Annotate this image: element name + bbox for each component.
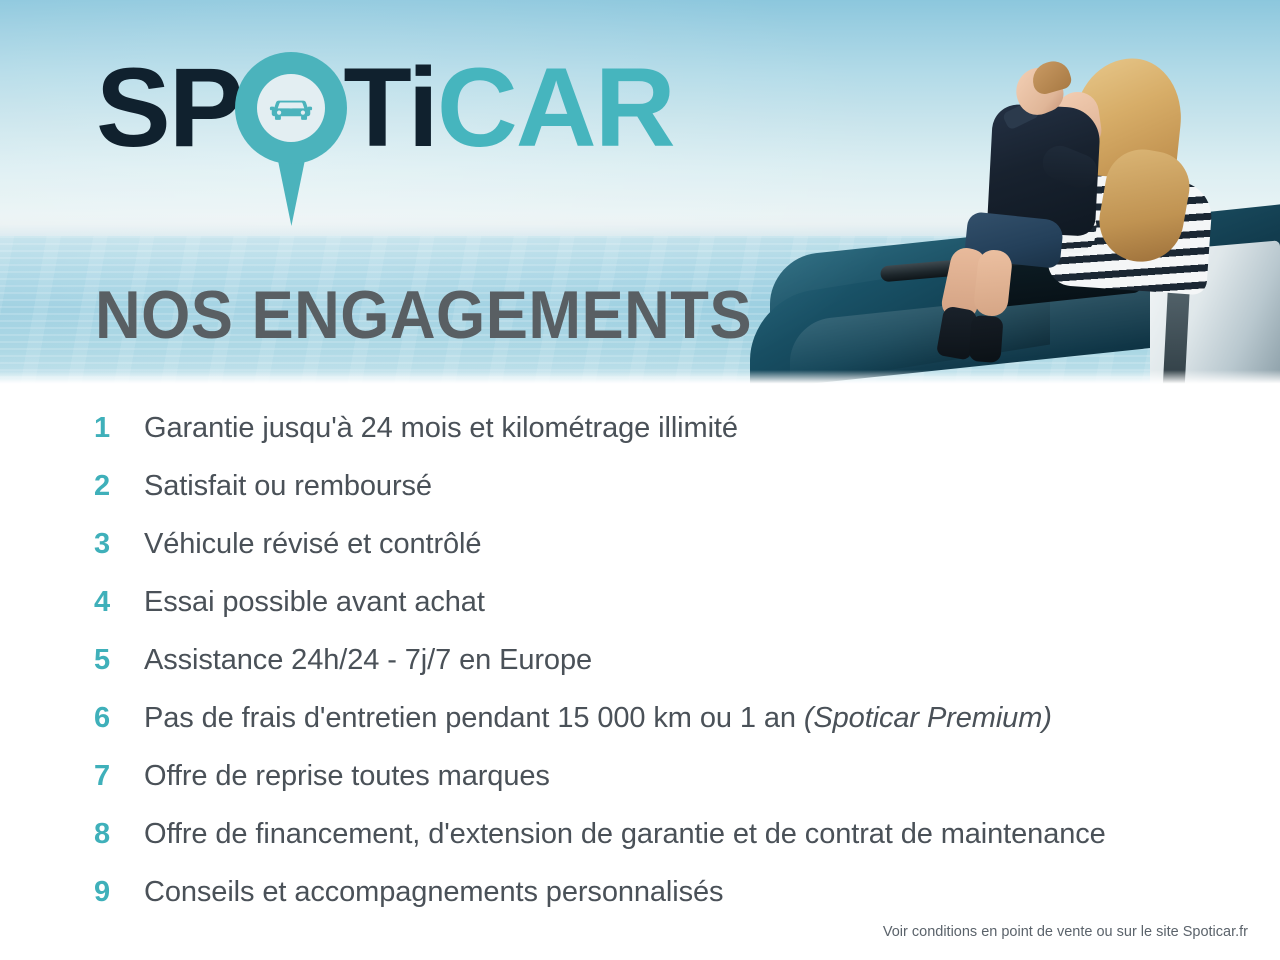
list-item-text: Offre de financement, d'extension de gar… xyxy=(144,818,1106,850)
list-item-text: Satisfait ou remboursé xyxy=(144,470,432,502)
list-item-text: Essai possible avant achat xyxy=(144,586,485,618)
page-title: NOS ENGAGEMENTS xyxy=(95,280,752,350)
list-item-text: Assistance 24h/24 - 7j/7 en Europe xyxy=(144,644,592,676)
list-item-number: 9 xyxy=(94,878,144,907)
list-item: 4Essai possible avant achat xyxy=(94,586,1244,644)
list-item-text: Véhicule révisé et contrôlé xyxy=(144,528,481,560)
list-item: 8Offre de financement, d'extension de ga… xyxy=(94,818,1244,876)
list-item: 7Offre de reprise toutes marques xyxy=(94,760,1244,818)
list-item-label: Assistance 24h/24 - 7j/7 en Europe xyxy=(144,644,592,676)
legal-disclaimer: Voir conditions en point de vente ou sur… xyxy=(883,923,1248,941)
list-item-text: Garantie jusqu'à 24 mois et kilométrage … xyxy=(144,412,738,444)
list-item-emphasis: (Spoticar Premium) xyxy=(804,702,1052,734)
list-item-label: Conseils et accompagnements personnalisé… xyxy=(144,876,723,908)
list-item-number: 7 xyxy=(94,762,144,791)
poster-page: SP xyxy=(0,0,1280,960)
list-item: 6Pas de frais d'entretien pendant 15 000… xyxy=(94,702,1244,760)
map-pin-car-icon xyxy=(235,52,347,224)
list-item: 1Garantie jusqu'à 24 mois et kilométrage… xyxy=(94,412,1244,470)
list-item-label: Véhicule révisé et contrôlé xyxy=(144,528,481,560)
list-item-text: Conseils et accompagnements personnalisé… xyxy=(144,876,723,908)
list-item-number: 1 xyxy=(94,414,144,443)
list-item-label: Offre de financement, d'extension de gar… xyxy=(144,818,1106,850)
list-item-label: Pas de frais d'entretien pendant 15 000 … xyxy=(144,702,1052,734)
list-item: 2Satisfait ou remboursé xyxy=(94,470,1244,528)
list-item-label: Satisfait ou remboursé xyxy=(144,470,432,502)
list-item-number: 8 xyxy=(94,820,144,849)
pin-inner-circle xyxy=(257,74,325,142)
list-item-number: 3 xyxy=(94,530,144,559)
list-item-number: 2 xyxy=(94,472,144,501)
list-item-number: 5 xyxy=(94,646,144,675)
logo-text-ti: Ti xyxy=(343,52,437,164)
list-item: 5Assistance 24h/24 - 7j/7 en Europe xyxy=(94,644,1244,702)
spoticar-logo: SP xyxy=(96,52,674,180)
logo-text-car: CAR xyxy=(437,52,674,164)
hero-bottom-fade xyxy=(0,370,1280,386)
list-item: 3Véhicule révisé et contrôlé xyxy=(94,528,1244,586)
commitments-list: 1Garantie jusqu'à 24 mois et kilométrage… xyxy=(94,412,1244,934)
list-item-label: Garantie jusqu'à 24 mois et kilométrage … xyxy=(144,412,738,444)
list-item-number: 6 xyxy=(94,704,144,733)
list-item-text: Pas de frais d'entretien pendant 15 000 … xyxy=(144,702,804,734)
list-item-label: Essai possible avant achat xyxy=(144,586,485,618)
logo-text-sp: SP xyxy=(96,52,241,164)
list-item-number: 4 xyxy=(94,588,144,617)
list-item-label: Offre de reprise toutes marques xyxy=(144,760,550,792)
list-item-text: Offre de reprise toutes marques xyxy=(144,760,550,792)
car-glyph xyxy=(269,94,313,122)
hero-banner: SP xyxy=(0,0,1280,386)
